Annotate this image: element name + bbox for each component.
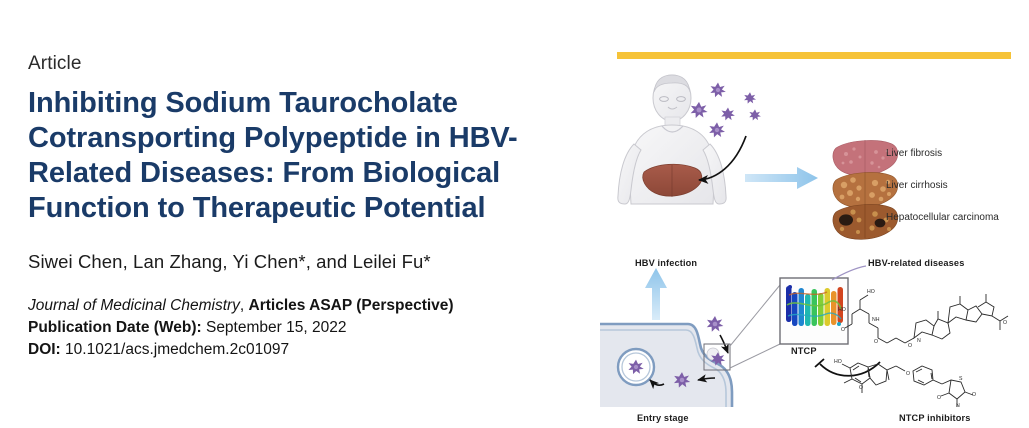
svg-text:NH: NH: [872, 317, 880, 323]
svg-text:O: O: [874, 339, 878, 345]
svg-text:O: O: [937, 395, 941, 401]
disease-label-hepatocellular-carcinoma: Hepatocellular carcinoma: [886, 212, 999, 223]
svg-text:O: O: [972, 392, 976, 398]
journal-line: Journal of Medicinal Chemistry, Articles…: [28, 295, 568, 317]
content-type-label: Article: [28, 52, 568, 76]
cell-entry-illustration: [600, 316, 732, 407]
svg-text:N: N: [956, 403, 960, 409]
journal-separator: ,: [240, 297, 249, 314]
doi-line: DOI: 10.1021/acs.jmedchem.2c01097: [28, 339, 568, 361]
page-title[interactable]: Inhibiting Sodium Taurocholate Cotranspo…: [28, 86, 528, 226]
svg-text:HO: HO: [867, 289, 875, 295]
disease-label-liver-fibrosis: Liver fibrosis: [886, 148, 942, 159]
doi-value[interactable]: 10.1021/acs.jmedchem.2c01097: [61, 341, 289, 358]
inhibition-arrow: [815, 359, 880, 376]
ntcp-inhibitor-structure-1: [845, 294, 1008, 343]
figure-label-ntcp: NTCP: [791, 346, 817, 356]
disease-label-liver-cirrhosis: Liver cirrhosis: [886, 180, 948, 191]
virus-particle-cloud: [691, 83, 761, 138]
svg-text:HO: HO: [834, 359, 842, 365]
graphical-abstract-panel: HO HO NH O O O N O HO O O S N O O: [600, 0, 1029, 428]
svg-text:HO: HO: [838, 307, 846, 313]
human-body-illustration: [618, 75, 726, 204]
ntcp-callout-lines: [730, 285, 780, 368]
publication-date-line: Publication Date (Web): September 15, 20…: [28, 317, 568, 339]
progression-arrow-right: [745, 167, 818, 189]
graphical-abstract-figure[interactable]: HO HO NH O O O N O HO O O S N O O: [600, 62, 1029, 428]
figure-label-hbv-infection: HBV infection: [635, 258, 697, 268]
publication-date-value: September 15, 2022: [202, 319, 347, 336]
figure-label-entry-stage: Entry stage: [637, 413, 689, 423]
article-preview-card: Article Inhibiting Sodium Taurocholate C…: [0, 0, 1029, 428]
publication-meta: Journal of Medicinal Chemistry, Articles…: [28, 295, 568, 361]
svg-text:O: O: [1003, 320, 1007, 326]
issue-status: Articles ASAP (Perspective): [249, 297, 454, 314]
svg-text:O: O: [859, 385, 863, 391]
yellow-accent-bar: [617, 52, 1011, 59]
doi-label: DOI:: [28, 341, 61, 358]
graphical-abstract-svg: HO HO NH O O O N O HO O O S N O O: [600, 62, 1029, 428]
publication-date-label: Publication Date (Web):: [28, 319, 202, 336]
journal-name[interactable]: Journal of Medicinal Chemistry: [28, 297, 240, 314]
entry-to-infection-arrow: [645, 268, 667, 320]
author-list: Siwei Chen, Lan Zhang, Yi Chen*, and Lei…: [28, 251, 568, 273]
svg-text:O: O: [841, 327, 845, 333]
svg-text:O: O: [908, 343, 912, 349]
svg-text:N: N: [917, 338, 921, 344]
ntcp-structure-box: [780, 266, 866, 344]
figure-label-ntcp-inhibitors: NTCP inhibitors: [899, 413, 971, 423]
svg-text:O: O: [906, 371, 910, 377]
figure-label-hbv-related-diseases: HBV-related diseases: [868, 258, 964, 268]
bibliographic-block: Article Inhibiting Sodium Taurocholate C…: [28, 52, 568, 361]
svg-text:S: S: [959, 376, 963, 382]
